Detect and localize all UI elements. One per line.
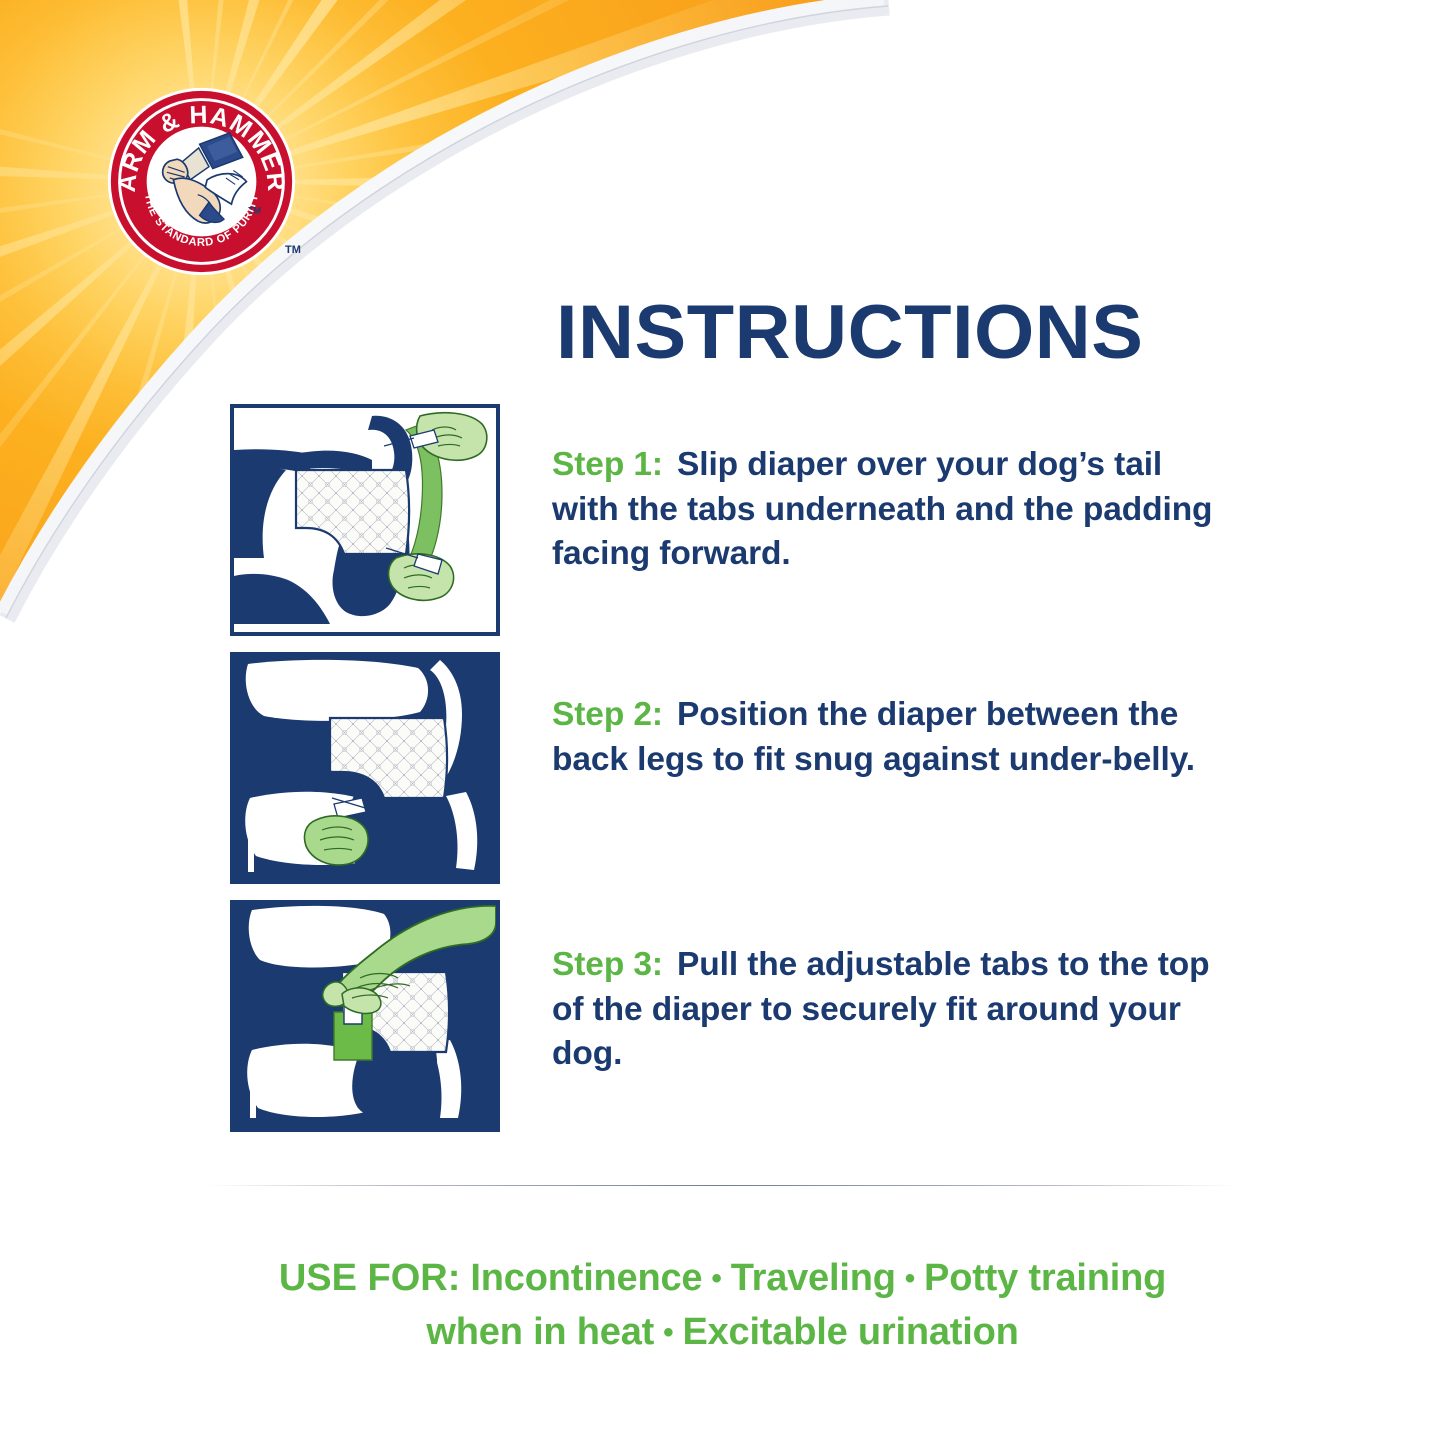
use-for-line-2: when in heat•Excitable urination	[0, 1306, 1445, 1360]
step-2-label: Step 2:	[552, 696, 663, 733]
step-2-text: Step 2:Position the diaper between the b…	[552, 693, 1224, 782]
page-title: INSTRUCTIONS	[556, 295, 1209, 371]
use-for-item-potty-training: Potty training	[924, 1257, 1166, 1299]
use-for-bullet-3: •	[654, 1312, 682, 1355]
use-for-bullet-1: •	[702, 1258, 730, 1301]
step-2-illustration	[230, 652, 500, 884]
use-for-item-when-in-heat: when in heat	[426, 1311, 654, 1353]
step-3-illustration	[230, 900, 500, 1132]
section-divider	[206, 1185, 1238, 1186]
step-1-label: Step 1:	[552, 446, 663, 483]
logo-outer-tm: TM	[285, 244, 301, 256]
use-for-section: USE FOR:Incontinence•Traveling•Potty tra…	[0, 1252, 1445, 1360]
use-for-item-traveling: Traveling	[731, 1257, 896, 1299]
use-for-item-excitable-urination: Excitable urination	[682, 1311, 1018, 1353]
step-3-label: Step 3:	[552, 946, 663, 983]
step-3-text: Step 3:Pull the adjustable tabs to the t…	[552, 943, 1224, 1077]
use-for-heading: USE FOR:	[279, 1257, 461, 1299]
arm-and-hammer-logo: TM ARM & HAMMER THE STANDARD OF PURITY T…	[104, 84, 299, 279]
instruction-panel-page: TM ARM & HAMMER THE STANDARD OF PURITY T…	[0, 0, 1445, 1446]
use-for-bullet-2: •	[896, 1258, 924, 1301]
use-for-line-1: USE FOR:Incontinence•Traveling•Potty tra…	[0, 1252, 1445, 1306]
use-for-item-incontinence: Incontinence	[470, 1257, 702, 1299]
step-1-text: Step 1:Slip diaper over your dog’s tail …	[552, 443, 1224, 577]
step-1-illustration	[230, 404, 500, 636]
